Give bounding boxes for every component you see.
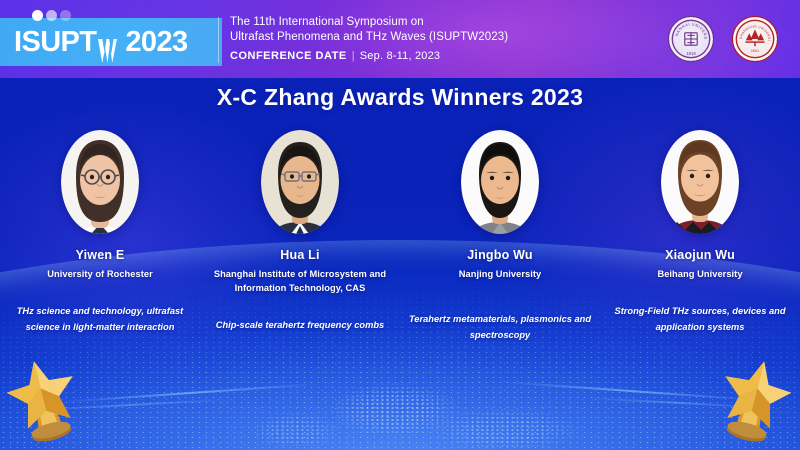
isuptw-logo: ISUPT 2023	[0, 18, 222, 66]
svg-text:1901: 1901	[751, 49, 759, 53]
winner-affiliation: Beihang University	[657, 268, 742, 282]
winner-card: Jingbo Wu Nanjing University Terahertz m…	[400, 130, 600, 360]
portrait-jingbo-wu	[461, 130, 539, 234]
date-separator: |	[352, 50, 355, 62]
portrait-hua-li	[261, 130, 339, 234]
logo-text: ISUPT 2023	[14, 18, 188, 66]
star-trophy-icon-left	[0, 356, 92, 448]
svg-text:1919: 1919	[686, 51, 696, 56]
portrait-xiaojun-wu	[661, 130, 739, 234]
winner-name: Hua Li	[280, 248, 319, 262]
winner-affiliation: Nanjing University	[459, 268, 542, 282]
winner-topic: THz science and technology, ultrafast sc…	[6, 304, 194, 336]
portrait-yiwen-e	[61, 130, 139, 234]
winner-topic: Strong-Field THz sources, devices and ap…	[606, 304, 794, 336]
conference-date-label: CONFERENCE DATE	[230, 50, 347, 62]
winner-card: Xiaojun Wu Beihang University Strong-Fie…	[600, 130, 800, 360]
page-title: X-C Zhang Awards Winners 2023	[0, 84, 800, 111]
winner-name: Yiwen E	[76, 248, 125, 262]
conference-info: The 11th International Symposium on Ultr…	[230, 15, 508, 64]
winner-card: Hua Li Shanghai Institute of Microsystem…	[200, 130, 400, 360]
conference-date-value: Sep. 8-11, 2023	[360, 50, 440, 62]
winner-affiliation: Shanghai Institute of Microsystem and In…	[206, 268, 394, 296]
winner-name: Jingbo Wu	[467, 248, 532, 262]
winner-name: Xiaojun Wu	[665, 248, 735, 262]
university-seals: NANKAI UNIVERSITY 1919 SHANDONG UNIVERSI…	[668, 16, 778, 62]
conference-date-row: CONFERENCE DATE|Sep. 8-11, 2023	[230, 49, 508, 63]
svg-text:NANKAI UNIVERSITY: NANKAI UNIVERSITY	[669, 17, 708, 40]
star-trophy-icon-right	[706, 356, 800, 448]
winners-list: Yiwen E University of Rochester THz scie…	[0, 130, 800, 360]
globe-landmass	[250, 412, 340, 446]
winner-topic: Chip-scale terahertz frequency combs	[216, 318, 384, 334]
globe-landmass	[330, 382, 460, 434]
logo-year: 2023	[125, 18, 187, 66]
conference-title-line1: The 11th International Symposium on	[230, 15, 508, 30]
winner-topic: Terahertz metamaterials, plasmonics and …	[406, 312, 594, 344]
winner-card: Yiwen E University of Rochester THz scie…	[0, 130, 200, 360]
light-streak	[60, 383, 320, 403]
shandong-university-seal-icon: SHANDONG UNIVERSITY 1901	[732, 16, 778, 62]
award-slide: ISUPT 2023 The 11th International Sympos…	[0, 0, 800, 450]
globe-landmass	[430, 408, 580, 448]
conference-title-line2: Ultrafast Phenomena and THz Waves (ISUPT…	[230, 30, 508, 45]
nankai-university-seal-icon: NANKAI UNIVERSITY 1919	[668, 16, 714, 62]
logo-text-main: ISUPT	[14, 18, 96, 66]
waveform-w-icon	[97, 31, 118, 57]
winner-affiliation: University of Rochester	[47, 268, 153, 282]
